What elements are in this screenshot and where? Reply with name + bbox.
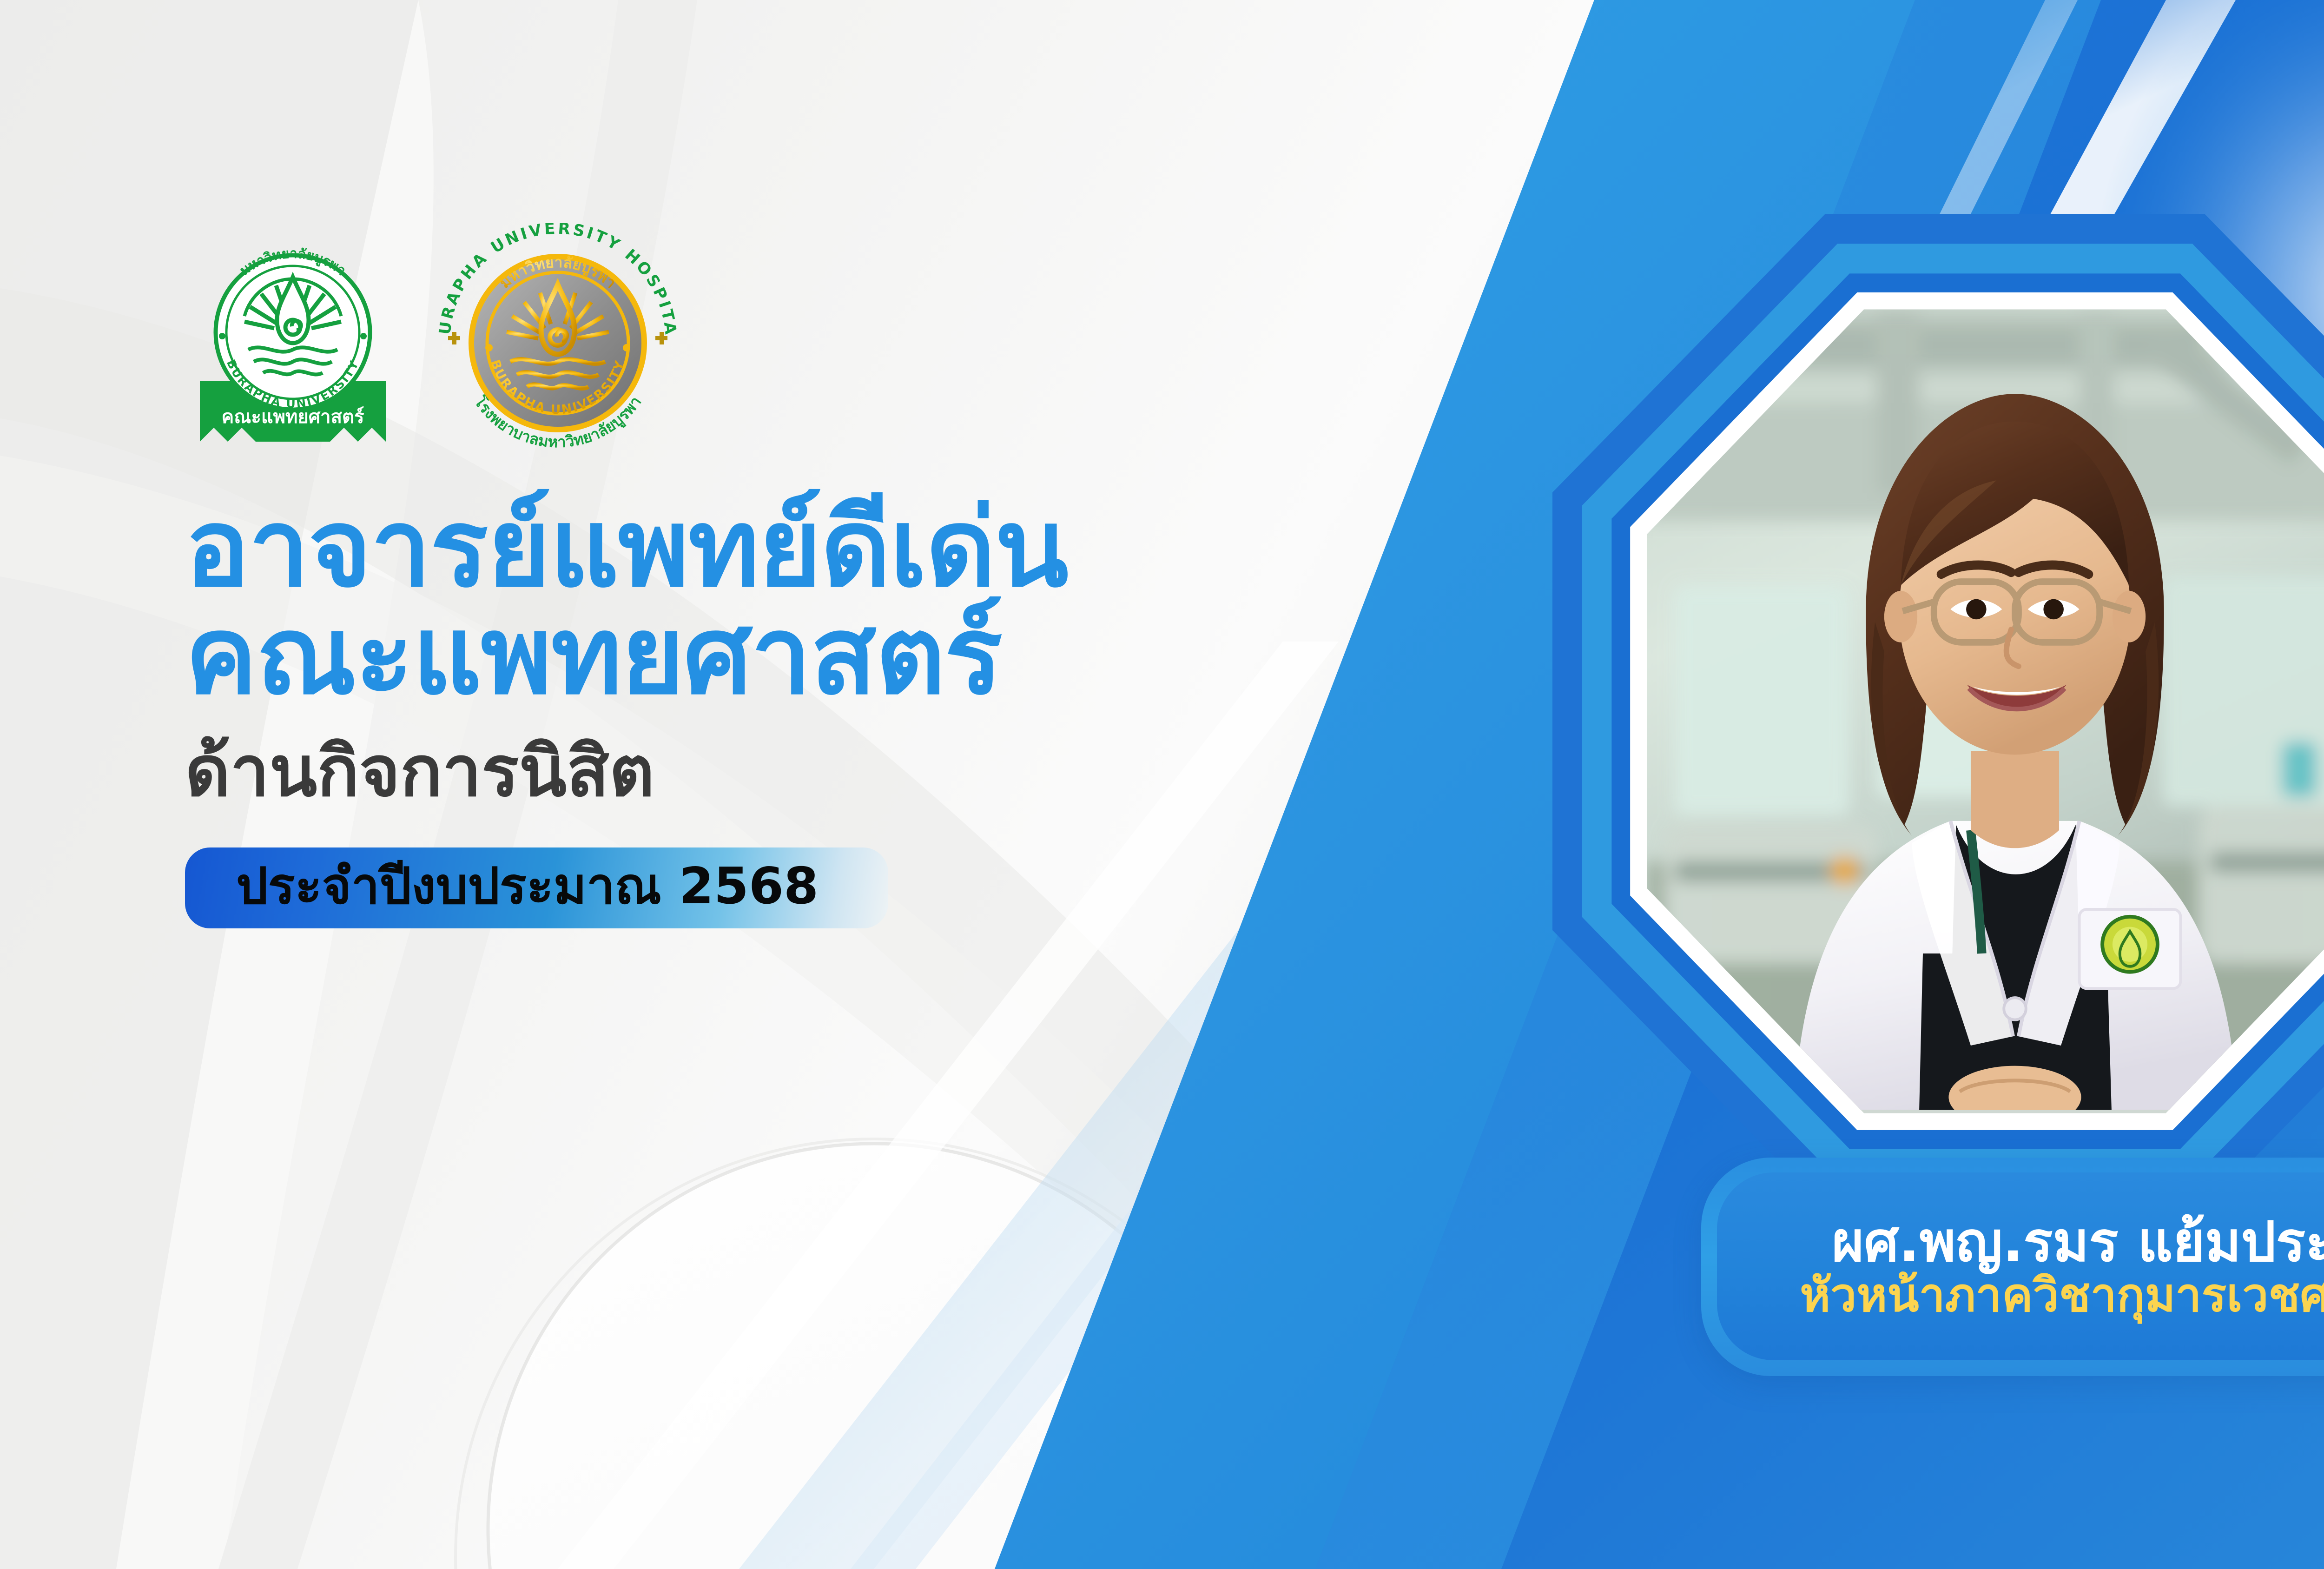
- poster-canvas: คณะแพทยศาสตร์ มหาวิทยาลัยบูรพา BURAPHA U…: [0, 0, 2324, 1569]
- nameplate-inner: ผศ.พญ.รมร แย้มประทุม หัวหน้าภาควิชากุมาร…: [1717, 1172, 2324, 1360]
- fiscal-year-badge: ประจำปีงบประมาณ 2568: [185, 847, 888, 928]
- doctor-portrait-illustration: [1647, 309, 2324, 1110]
- headline-line-1: อาจารย์แพทย์ดีเด่น: [185, 500, 1579, 597]
- logo-burapha-hospital: BURAPHA UNIVERSITY HOSPITAL โรงพยาบาลมหา…: [414, 223, 702, 458]
- nameplate-role: หัวหน้าภาควิชากุมารเวชศาสตร์: [1800, 1272, 2324, 1318]
- nameplate: ผศ.พญ.รมร แย้มประทุม หัวหน้าภาควิชากุมาร…: [1701, 1158, 2324, 1376]
- portrait-frame: [1552, 214, 2324, 1209]
- nameplate-name: ผศ.พญ.รมร แย้มประทุม: [1832, 1214, 2324, 1269]
- portrait-photo: [1647, 309, 2324, 1113]
- headline-line-2: คณะแพทยศาสตร์: [185, 607, 1579, 704]
- headline-subtitle: ด้านกิจการนิสิต: [185, 737, 1579, 807]
- logo-burapha-university: คณะแพทยศาสตร์ มหาวิทยาลัยบูรพา BURAPHA U…: [186, 223, 400, 458]
- logo-row: คณะแพทยศาสตร์ มหาวิทยาลัยบูรพา BURAPHA U…: [186, 223, 702, 458]
- headline-block: อาจารย์แพทย์ดีเด่น คณะแพทยศาสตร์ ด้านกิจ…: [185, 500, 1579, 928]
- burapha-university-hospital-seal-icon: BURAPHA UNIVERSITY HOSPITAL โรงพยาบาลมหา…: [414, 223, 702, 456]
- buraphha-university-seal-icon: คณะแพทยศาสตร์ มหาวิทยาลัยบูรพา BURAPHA U…: [186, 223, 400, 456]
